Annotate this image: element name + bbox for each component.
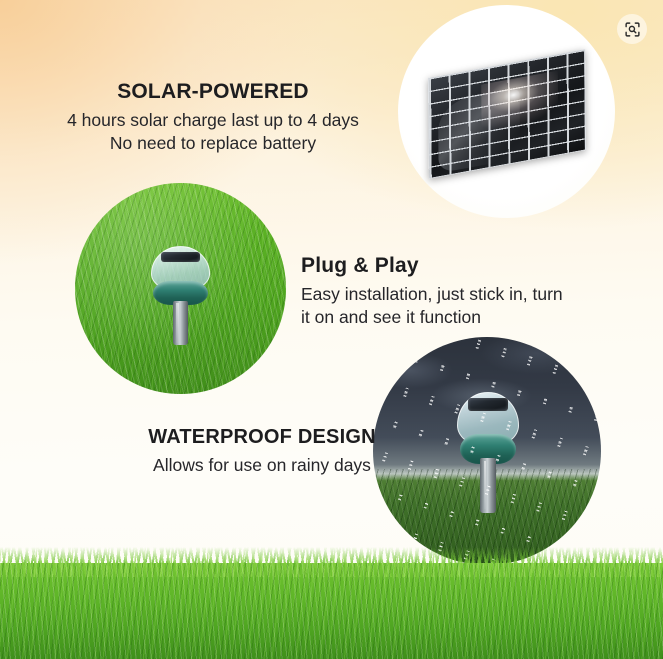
device-in-rain-photo (373, 337, 601, 565)
device-metal-stake (173, 301, 188, 346)
feature-plug-and-play: Plug & Play Easy installation, just stic… (301, 254, 601, 329)
grass-texture (75, 183, 286, 394)
grass-blades-body (0, 563, 663, 659)
solar-panel-cells (428, 49, 586, 179)
solar-subline-2: No need to replace battery (38, 132, 388, 155)
device-dome (151, 246, 210, 291)
waterproof-headline: WATERPROOF DESIGN (122, 426, 402, 449)
device-metal-stake-rain (480, 458, 496, 513)
device-dome-rain (457, 392, 519, 447)
solar-headline: SOLAR-POWERED (38, 80, 388, 104)
plug-subline-1: Easy installation, just stick in, turn (301, 283, 601, 306)
repeller-device-graphic-rain (457, 392, 519, 511)
waterproof-subline-1: Allows for use on rainy days (122, 454, 402, 477)
solar-panel-photo (398, 5, 615, 218)
rain-streaks (373, 337, 601, 565)
device-in-grass-photo (75, 183, 286, 394)
solar-panel-graphic (428, 49, 586, 179)
visual-search-scan-button[interactable] (617, 14, 647, 44)
product-infographic: SOLAR-POWERED 4 hours solar charge last … (0, 0, 663, 659)
device-teal-band (153, 281, 207, 305)
feature-waterproof-design: WATERPROOF DESIGN Allows for use on rain… (122, 426, 402, 477)
device-teal-band-rain (460, 434, 517, 464)
solar-subline-1: 4 hours solar charge last up to 4 days (38, 109, 388, 132)
device-solar-cell-rain (468, 398, 508, 411)
device-solar-cell (161, 252, 200, 262)
feature-solar-powered: SOLAR-POWERED 4 hours solar charge last … (38, 80, 388, 155)
scan-icon (624, 21, 641, 38)
plug-headline: Plug & Play (301, 254, 601, 278)
bottom-grass-band (0, 563, 663, 659)
repeller-device-graphic (151, 246, 210, 343)
storm-clouds (373, 337, 601, 469)
plug-subline-2: it on and see it function (301, 306, 601, 329)
